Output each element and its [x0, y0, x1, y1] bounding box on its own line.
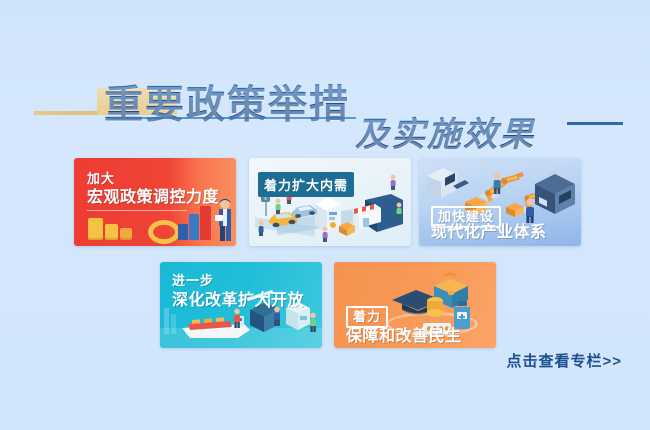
pedestrian-person-icon	[257, 220, 265, 241]
card-macro-label: 加大 宏观政策调控力度	[87, 171, 219, 208]
coin-stack-icon	[120, 228, 132, 240]
bar-chart-icon	[200, 206, 211, 240]
pedestrian-person-icon	[321, 226, 329, 246]
delivery-box-icon	[337, 220, 357, 243]
card-industry-line-2: 现代化产业体系	[431, 224, 547, 243]
bar-chart-icon	[189, 214, 199, 240]
port-person-icon	[232, 308, 242, 333]
title-rule-right-decoration	[567, 122, 623, 125]
card-demand-label-text: 着力扩大内需	[264, 178, 348, 193]
card-welfare-line-1: 着力	[346, 306, 388, 328]
title-underline-decoration	[110, 117, 356, 119]
donut-coin-icon	[148, 220, 180, 244]
page-title-block: 重要政策举措 及实施效果	[0, 58, 650, 144]
bar-chart-icon	[178, 224, 188, 240]
card-improve-livelihood[interactable]: 着力 保障和改善民生	[334, 262, 496, 348]
page-title-line-2: 及实施效果	[355, 107, 535, 156]
pedestrian-person-icon	[395, 202, 403, 223]
card-macro-line-1: 加大	[87, 171, 219, 186]
pedestrian-person-icon	[274, 198, 282, 219]
card-welfare-line-2: 保障和改善民生	[346, 328, 462, 347]
card-reform-label: 进一步 深化改革扩大开放	[172, 273, 304, 311]
coin-stack-icon	[88, 218, 103, 240]
page-title-line-1: 重要政策举措	[104, 74, 350, 130]
card-macro-line-2: 宏观政策调控力度	[87, 189, 219, 208]
card-macro-policy[interactable]: 加大 宏观政策调控力度	[74, 158, 236, 246]
card-reform-line-2: 深化改革扩大开放	[172, 292, 304, 311]
card-macro-divider	[87, 210, 187, 211]
card-expand-demand[interactable]: 着力扩大内需	[249, 158, 411, 246]
card-welfare-line-1-text: 着力	[346, 306, 388, 328]
car-icon	[289, 200, 321, 225]
card-deepen-reform[interactable]: 进一步 深化改革扩大开放	[160, 262, 322, 348]
card-reform-line-1: 进一步	[172, 273, 304, 288]
worker-person-icon	[491, 172, 503, 199]
card-demand-label: 着力扩大内需	[258, 172, 354, 197]
coin-stack-icon	[105, 224, 118, 240]
view-column-link[interactable]: 点击查看专栏>>	[506, 350, 622, 371]
pedestrian-person-icon	[389, 174, 397, 195]
port-person-icon	[308, 312, 318, 337]
card-modern-industry[interactable]: 加快建设 现代化产业体系	[419, 158, 581, 246]
